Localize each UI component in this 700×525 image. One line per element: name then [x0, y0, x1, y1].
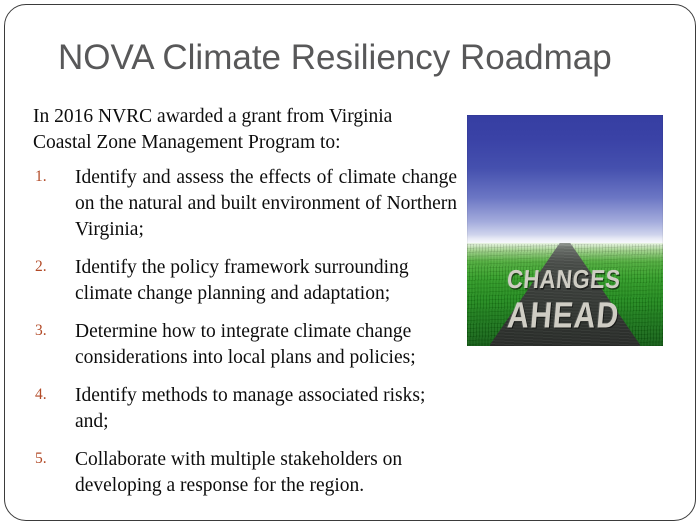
slide: NOVA Climate Resiliency Roadmap In 2016 …	[0, 0, 700, 525]
intro-paragraph: In 2016 NVRC awarded a grant from Virgin…	[33, 104, 443, 155]
list-item: 1. Identify and assess the effects of cl…	[33, 165, 457, 243]
list-item: 4. Identify methods to manage associated…	[33, 383, 457, 435]
list-item: 5. Collaborate with multiple stakeholder…	[33, 447, 457, 499]
list-item-text: Identify the policy framework surroundin…	[75, 255, 457, 307]
list-item-text: Collaborate with multiple stakeholders o…	[75, 447, 457, 499]
list-item-marker: 4.	[35, 385, 61, 406]
list-item-marker: 3.	[35, 321, 61, 342]
list-item: 3. Determine how to integrate climate ch…	[33, 319, 457, 371]
list-item-text: Identify and assess the effects of clima…	[75, 165, 457, 243]
list-item-marker: 2.	[35, 257, 61, 278]
changes-ahead-road-photo: CHANGES AHEAD	[467, 115, 663, 346]
list-item-marker: 1.	[35, 167, 61, 188]
list-item: 2. Identify the policy framework surroun…	[33, 255, 457, 307]
list-item-text: Identify methods to manage associated ri…	[75, 383, 457, 435]
page-title: NOVA Climate Resiliency Roadmap	[58, 38, 658, 78]
photo-edge	[467, 115, 663, 346]
slide-body-column: In 2016 NVRC awarded a grant from Virgin…	[33, 104, 457, 511]
objectives-list: 1. Identify and assess the effects of cl…	[33, 165, 457, 498]
list-item-marker: 5.	[35, 449, 61, 470]
list-item-text: Determine how to integrate climate chang…	[75, 319, 457, 371]
